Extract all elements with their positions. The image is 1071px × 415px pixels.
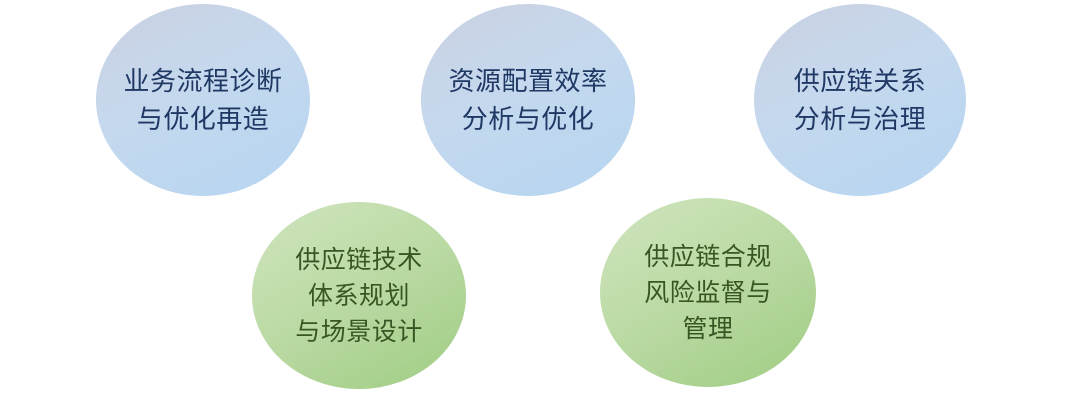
diagram-circle-label: 资源配置效率 分析与优化 — [448, 62, 607, 138]
diagram-circle-label: 供应链关系 分析与治理 — [794, 62, 927, 138]
diagram-circle-resource-allocation[interactable]: 资源配置效率 分析与优化 — [421, 4, 635, 196]
diagram-circle-supply-chain-relationship[interactable]: 供应链关系 分析与治理 — [754, 4, 966, 196]
diagram-circle-supply-chain-technology[interactable]: 供应链技术 体系规划 与场景设计 — [252, 202, 466, 389]
diagram-circle-label: 供应链合规 风险监督与 管理 — [644, 239, 772, 347]
diagram-circle-label: 供应链技术 体系规划 与场景设计 — [295, 242, 423, 350]
circle-cluster-diagram: 业务流程诊断 与优化再造 资源配置效率 分析与优化 供应链关系 分析与治理 供应… — [0, 0, 1071, 415]
diagram-circle-label: 业务流程诊断 与优化再造 — [123, 62, 282, 138]
diagram-circle-business-process[interactable]: 业务流程诊断 与优化再造 — [96, 4, 310, 196]
diagram-circle-supply-chain-compliance[interactable]: 供应链合规 风险监督与 管理 — [600, 198, 816, 387]
